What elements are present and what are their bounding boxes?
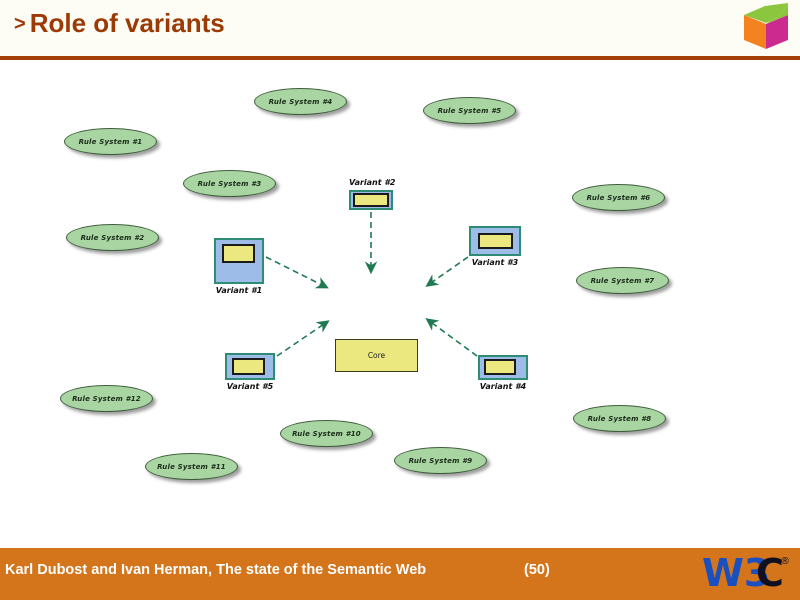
- rule-system-label: Rule System #9: [409, 457, 473, 465]
- rule-system-node-6[interactable]: Rule System #6: [572, 184, 665, 211]
- variant-label-4: Variant #4: [478, 382, 528, 391]
- rule-system-label: Rule System #10: [292, 430, 361, 438]
- rule-system-node-10[interactable]: Rule System #10: [280, 420, 373, 447]
- title-chevron: >: [14, 13, 26, 35]
- w3c-logo-svg: W3 C ®: [702, 552, 794, 594]
- rule-system-node-5[interactable]: Rule System #5: [423, 97, 516, 124]
- core-box[interactable]: Core: [335, 339, 418, 372]
- rule-system-label: Rule System #8: [588, 415, 652, 423]
- rule-system-node-2[interactable]: Rule System #2: [66, 224, 159, 251]
- variant-node-2[interactable]: Variant #2: [349, 178, 393, 212]
- rule-system-node-11[interactable]: Rule System #11: [145, 453, 238, 480]
- variant-label-5: Variant #5: [225, 382, 275, 391]
- slide-header: >Role of variants: [0, 0, 800, 58]
- rule-system-node-1[interactable]: Rule System #1: [64, 128, 157, 155]
- variant-inner-box-1: [222, 244, 255, 263]
- edge-variant3-core: [428, 257, 468, 285]
- rule-system-label: Rule System #6: [587, 194, 651, 202]
- rule-system-node-12[interactable]: Rule System #12: [60, 385, 153, 412]
- variant-node-1[interactable]: Variant #1: [214, 238, 264, 300]
- diagram-canvas: Core Variant #1 Variant #2 Variant #3 Va…: [0, 60, 800, 548]
- variant-label-1: Variant #1: [214, 286, 264, 295]
- variant-inner-box-2: [353, 193, 389, 207]
- edge-variant1-core: [266, 257, 326, 287]
- rule-system-node-8[interactable]: Rule System #8: [573, 405, 666, 432]
- rule-system-label: Rule System #7: [591, 277, 655, 285]
- page-title: >Role of variants: [14, 8, 225, 39]
- variant-inner-box-3: [478, 233, 513, 249]
- cube-logo: [740, 2, 792, 52]
- variant-inner-box-4: [484, 359, 516, 375]
- rule-system-node-3[interactable]: Rule System #3: [183, 170, 276, 197]
- rule-system-node-7[interactable]: Rule System #7: [576, 267, 669, 294]
- rule-system-label: Rule System #2: [81, 234, 145, 242]
- footer-page-number: (50): [524, 562, 550, 578]
- slide-footer: Karl Dubost and Ivan Herman, The state o…: [0, 548, 800, 600]
- variant-node-3[interactable]: Variant #3: [469, 226, 521, 272]
- core-label: Core: [368, 351, 385, 360]
- edge-variant5-core: [277, 322, 327, 356]
- variant-node-4[interactable]: Variant #4: [478, 355, 528, 397]
- rule-system-label: Rule System #12: [72, 395, 141, 403]
- slide: >Role of variants: [0, 0, 800, 600]
- variant-node-5[interactable]: Variant #5: [225, 353, 275, 397]
- cube-logo-svg: [740, 2, 792, 52]
- footer-attribution: Karl Dubost and Ivan Herman, The state o…: [5, 562, 426, 578]
- w3c-logo-registered-mark: ®: [780, 556, 790, 567]
- rule-system-node-4[interactable]: Rule System #4: [254, 88, 347, 115]
- page-title-text: Role of variants: [30, 8, 225, 38]
- rule-system-label: Rule System #4: [269, 98, 333, 106]
- edge-variant4-core: [428, 320, 477, 356]
- rule-system-label: Rule System #11: [157, 463, 226, 471]
- rule-system-label: Rule System #1: [79, 138, 143, 146]
- variant-inner-box-5: [232, 358, 265, 375]
- variant-label-3: Variant #3: [469, 258, 521, 267]
- rule-system-node-9[interactable]: Rule System #9: [394, 447, 487, 474]
- rule-system-label: Rule System #3: [198, 180, 262, 188]
- w3c-logo: W3 C ®: [702, 552, 794, 594]
- variant-label-2: Variant #2: [349, 178, 393, 187]
- rule-system-label: Rule System #5: [438, 107, 502, 115]
